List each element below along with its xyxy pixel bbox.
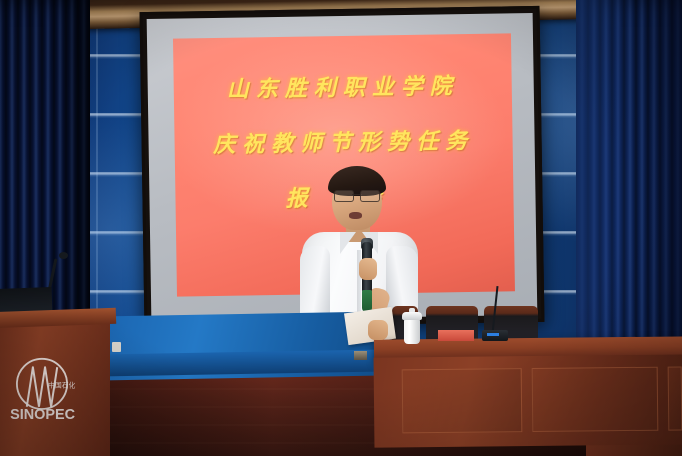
red-folder	[438, 330, 474, 341]
belt-buckle	[354, 351, 367, 360]
sinopec-logo-cn-text: 中国石化	[48, 381, 75, 390]
table-front-panel	[532, 367, 659, 432]
sinopec-logo-en-text: SINOPEC	[10, 407, 76, 423]
table-front-panel	[402, 368, 523, 433]
slide-line-2: 庆祝教师节形势任务	[174, 130, 512, 157]
glasses-lens-right	[360, 190, 380, 202]
thermos-lid	[402, 312, 422, 320]
conference-mic-indicator	[487, 333, 499, 336]
slide-line-1: 山东胜利职业学院	[174, 75, 512, 102]
glasses-icon	[333, 190, 381, 201]
auditorium-photo: THREELEAVES 山东胜利职业学院 庆祝教师节形势任务 报 会	[0, 0, 682, 456]
speaker-hand-holding-mic	[359, 258, 377, 280]
sinopec-logo-icon: 中国石化 SINOPEC	[4, 352, 80, 428]
speaker-hand-holding-notes	[368, 320, 388, 340]
glasses-lens-left	[334, 190, 354, 202]
podium-mic-head	[59, 252, 68, 259]
wall-outlet	[112, 342, 121, 352]
conference-table-front	[374, 354, 682, 447]
speaker-mouth	[349, 212, 362, 219]
thermos-cup	[404, 318, 420, 344]
shirt-collar-left	[340, 232, 356, 254]
table-front-panel	[668, 366, 682, 430]
